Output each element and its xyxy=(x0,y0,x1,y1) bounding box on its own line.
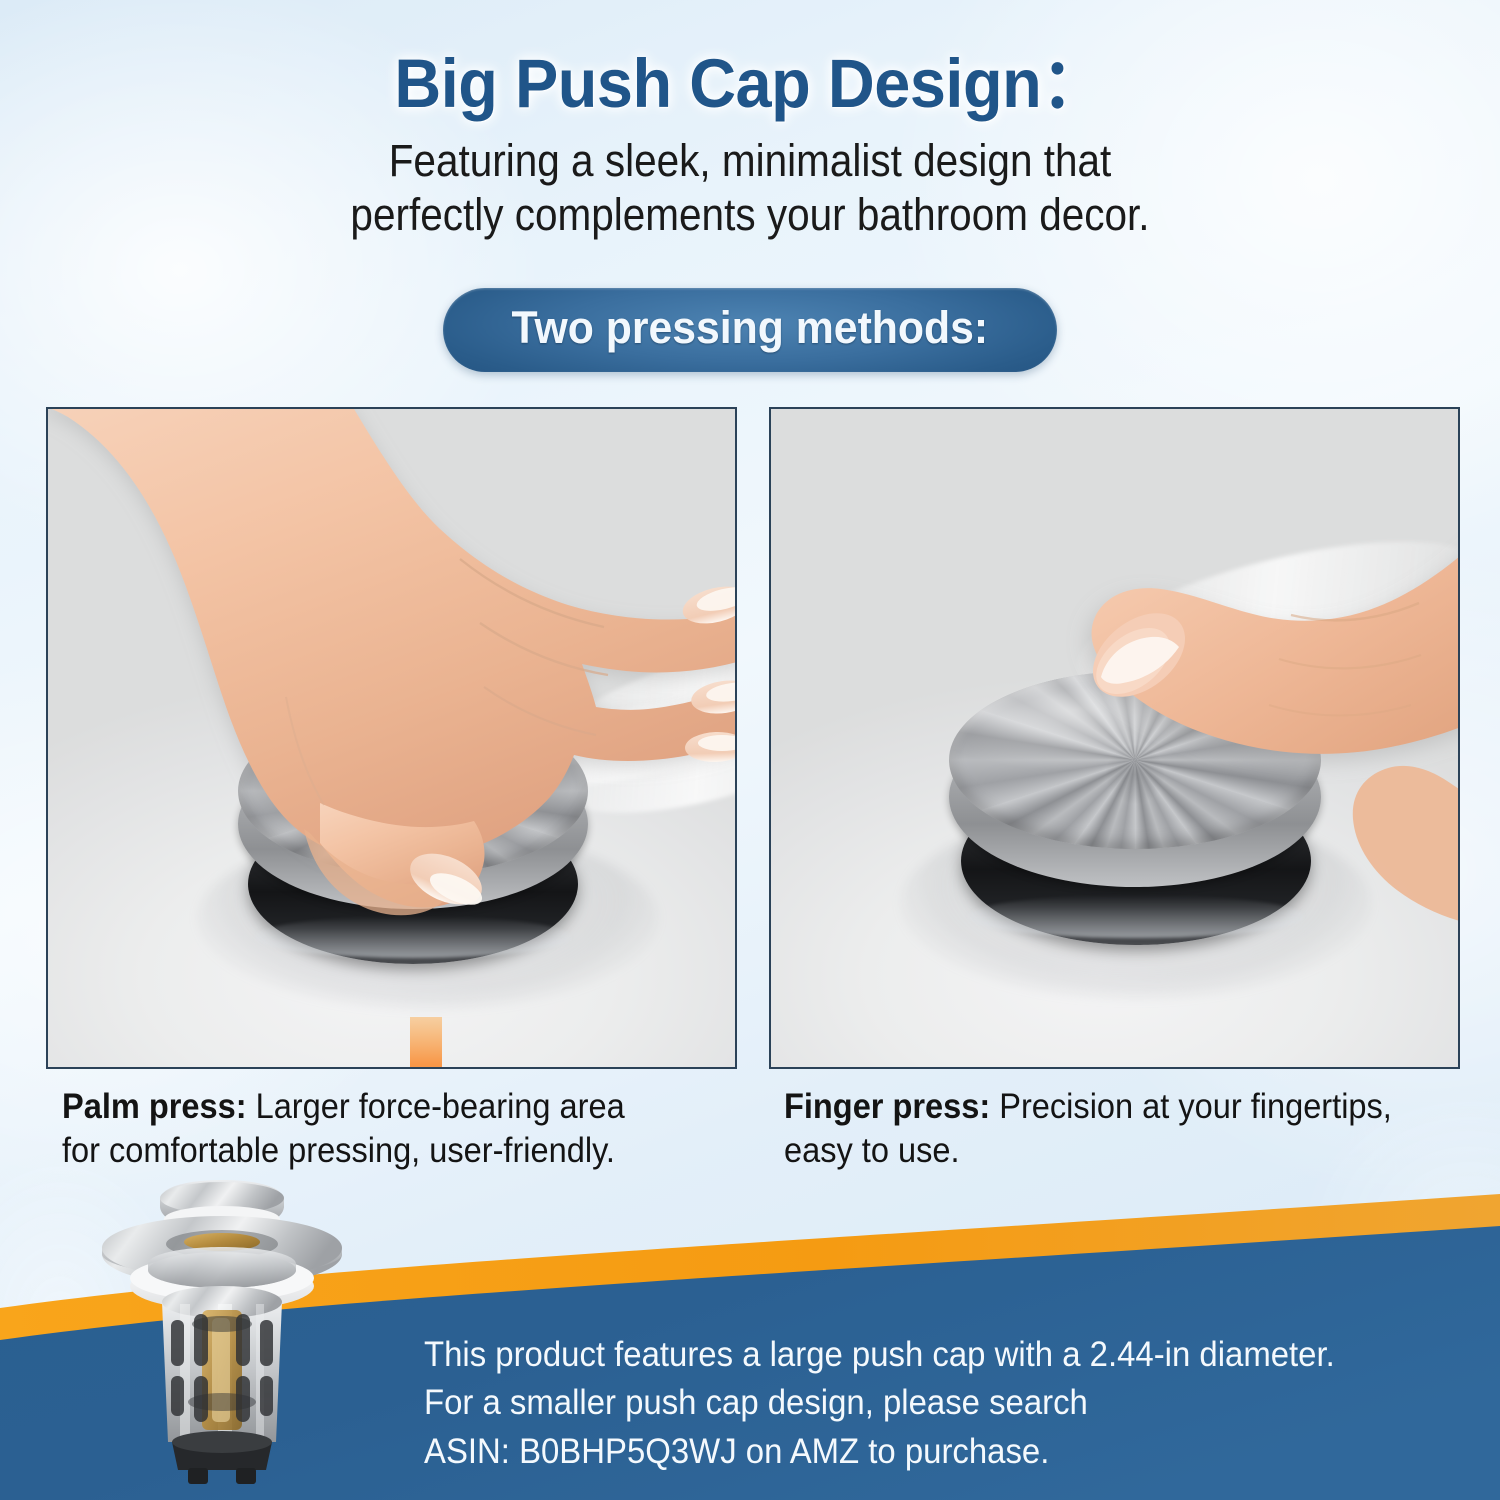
caption-left-line1: Larger force-bearing area xyxy=(247,1087,625,1126)
product-hero-image xyxy=(22,1170,422,1500)
header: Big Push Cap Design： Featuring a sleek, … xyxy=(0,0,1500,241)
banner-text: This product features a large push cap w… xyxy=(424,1331,1420,1476)
photo-finger-press xyxy=(769,407,1460,1069)
subtitle-line-2: perfectly complements your bathroom deco… xyxy=(75,188,1425,241)
finger-hand-illustration xyxy=(771,409,1460,1069)
caption-right-line1: Precision at your fingertips, xyxy=(990,1087,1392,1126)
badge-label: Two pressing methods: xyxy=(512,302,989,354)
badge-container: Two pressing methods: xyxy=(0,288,1500,372)
caption-palm-press: Palm press: Larger force-bearing area fo… xyxy=(62,1085,769,1173)
two-pressing-methods-badge: Two pressing methods: xyxy=(443,288,1057,372)
photo-palm-press xyxy=(46,407,737,1069)
caption-left-line2: for comfortable pressing, user-friendly. xyxy=(62,1129,769,1173)
caption-right-line2: easy to use. xyxy=(784,1129,1491,1173)
caption-finger-press: Finger press: Precision at your fingerti… xyxy=(784,1085,1491,1173)
banner-line-1: This product features a large push cap w… xyxy=(424,1331,1420,1379)
press-direction-arrow-icon xyxy=(380,1017,472,1069)
palm-hand-illustration xyxy=(48,409,737,1069)
page-subtitle: Featuring a sleek, minimalist design tha… xyxy=(75,134,1425,240)
subtitle-line-1: Featuring a sleek, minimalist design tha… xyxy=(75,134,1425,187)
caption-right-label: Finger press: xyxy=(784,1087,990,1126)
page-title: Big Push Cap Design： xyxy=(45,0,1455,120)
caption-left-label: Palm press: xyxy=(62,1087,247,1126)
banner-line-2: For a smaller push cap design, please se… xyxy=(424,1379,1420,1427)
banner-line-3-asin: ASIN: B0BHP5Q3WJ on AMZ to purchase. xyxy=(424,1428,1420,1476)
